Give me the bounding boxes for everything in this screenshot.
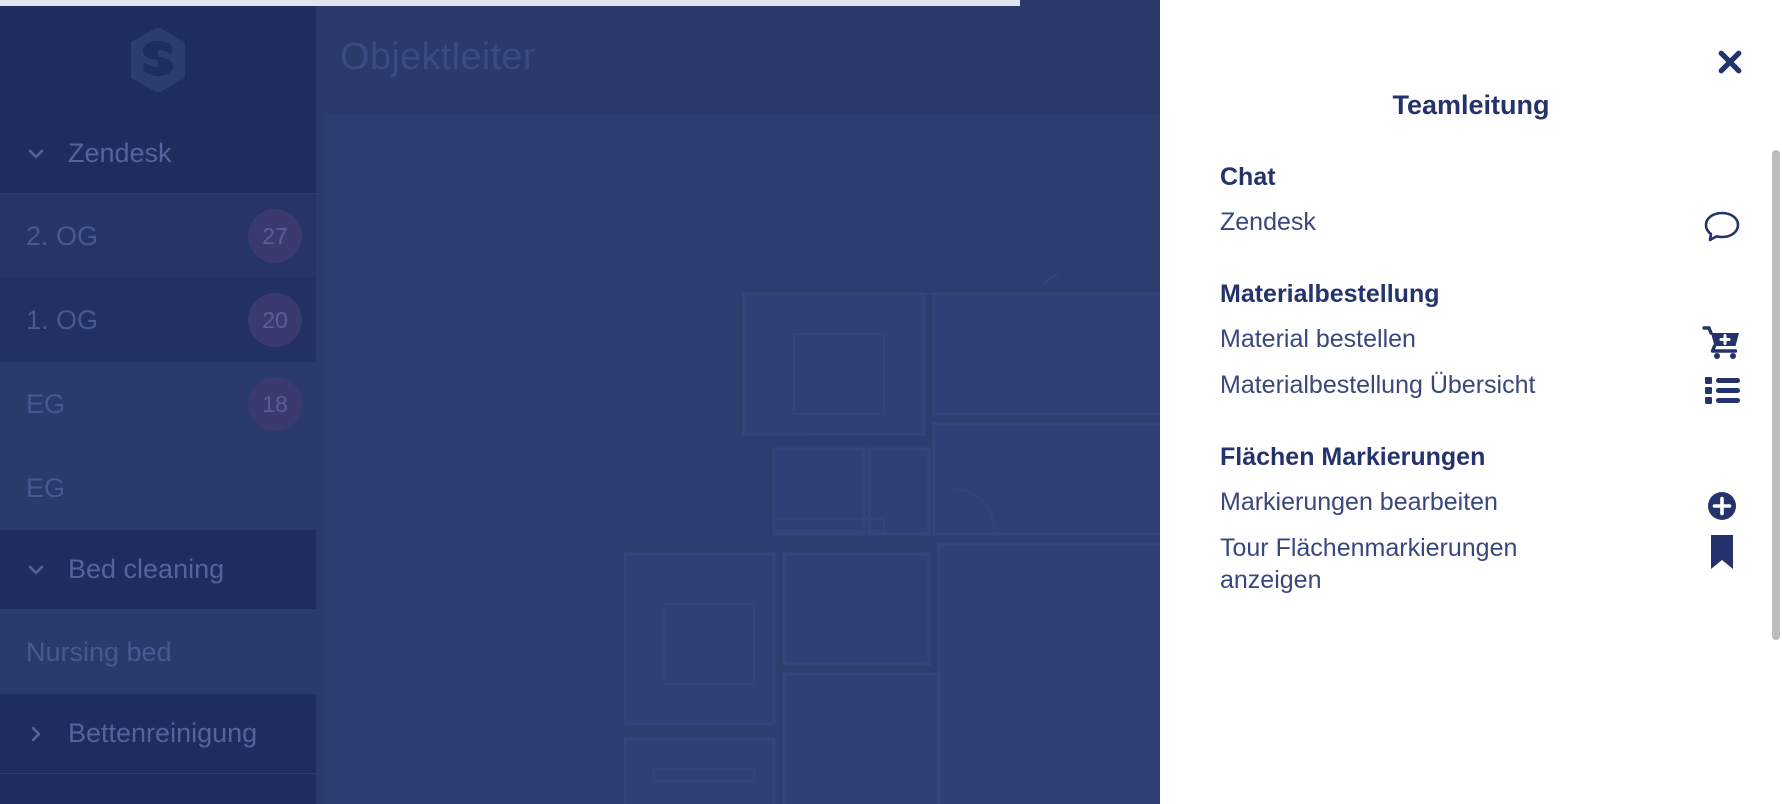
sidebar-item-label: 1. OG (26, 305, 98, 336)
sidebar-section-zendesk[interactable]: Zendesk (0, 114, 316, 194)
sidebar: Zendesk 2. OG 27 1. OG 20 EG 18 EG (0, 6, 316, 804)
menu-item-label: Zendesk (1220, 206, 1316, 238)
sidebar-item-label: 2. OG (26, 221, 98, 252)
menu-item-label: Materialbestellung Übersicht (1220, 369, 1535, 401)
chevron-right-icon (26, 724, 46, 744)
sidebar-item-eg-1[interactable]: EG 18 (0, 362, 316, 446)
sidebar-item-2og[interactable]: 2. OG 27 (0, 194, 316, 278)
cart-plus-icon (1700, 321, 1744, 365)
status-badge: 20 (248, 293, 302, 347)
menu-item-zendesk[interactable]: Zendesk (1160, 200, 1782, 246)
sidebar-item-eg-2[interactable]: EG (0, 446, 316, 530)
sidebar-section-label: Bettenreinigung (68, 718, 257, 749)
sidebar-item-label: EG (26, 389, 65, 420)
menu-item-tour-flaechenmarkierungen[interactable]: Tour Flächenmarkierungen anzeigen (1160, 526, 1782, 602)
sidebar-section-label: Bed cleaning (68, 554, 224, 585)
sidebar-section-label: Zendesk (68, 138, 172, 169)
sidebar-section-bed-cleaning[interactable]: Bed cleaning (0, 530, 316, 610)
bullet-list-icon (1700, 367, 1744, 411)
menu-item-label: Markierungen bearbeiten (1220, 486, 1498, 518)
sidebar-section-bettenreinigung[interactable]: Bettenreinigung (0, 694, 316, 774)
group-heading: Materialbestellung (1160, 280, 1782, 309)
sheet-title: Teamleitung (1160, 90, 1782, 121)
sidebar-item-nursing-bed[interactable]: Nursing bed (0, 610, 316, 694)
menu-item-label: Material bestellen (1220, 323, 1416, 355)
plus-circle-icon (1700, 484, 1744, 528)
page-title: Objektleiter (340, 36, 536, 79)
close-button[interactable] (1702, 34, 1758, 90)
sheet-scrollbar[interactable] (1772, 150, 1780, 640)
menu-item-markierungen-bearbeiten[interactable]: Markierungen bearbeiten (1160, 480, 1782, 526)
menu-item-material-bestellen[interactable]: Material bestellen (1160, 317, 1782, 363)
group-heading: Flächen Markierungen (1160, 443, 1782, 472)
status-badge: 18 (248, 377, 302, 431)
sidebar-item-label: Nursing bed (26, 637, 172, 668)
sidebar-item-1og[interactable]: 1. OG 20 (0, 278, 316, 362)
sidebar-logo[interactable] (0, 6, 316, 114)
side-sheet-panel: Teamleitung Chat Zendesk Materialbestell… (1160, 0, 1782, 804)
group-flaechen-markierungen: Flächen Markierungen Markierungen bearbe… (1160, 443, 1782, 602)
close-icon (1715, 47, 1745, 77)
chevron-down-icon (26, 144, 46, 164)
sidebar-item-label: EG (26, 473, 65, 504)
menu-item-label: Tour Flächenmarkierungen anzeigen (1220, 532, 1620, 596)
chevron-down-icon (26, 560, 46, 580)
status-badge: 27 (248, 209, 302, 263)
menu-item-materialbestellung-uebersicht[interactable]: Materialbestellung Übersicht (1160, 363, 1782, 409)
s-hexagon-logo-icon (127, 25, 189, 95)
group-heading: Chat (1160, 163, 1782, 192)
bookmark-icon (1700, 530, 1744, 574)
sheet-body: Chat Zendesk Materialbestellung Material… (1160, 163, 1782, 602)
group-materialbestellung: Materialbestellung Material bestellen (1160, 280, 1782, 409)
app-root: Zendesk 2. OG 27 1. OG 20 EG 18 EG (0, 0, 1782, 804)
chat-bubble-icon (1700, 204, 1744, 248)
group-chat: Chat Zendesk (1160, 163, 1782, 246)
